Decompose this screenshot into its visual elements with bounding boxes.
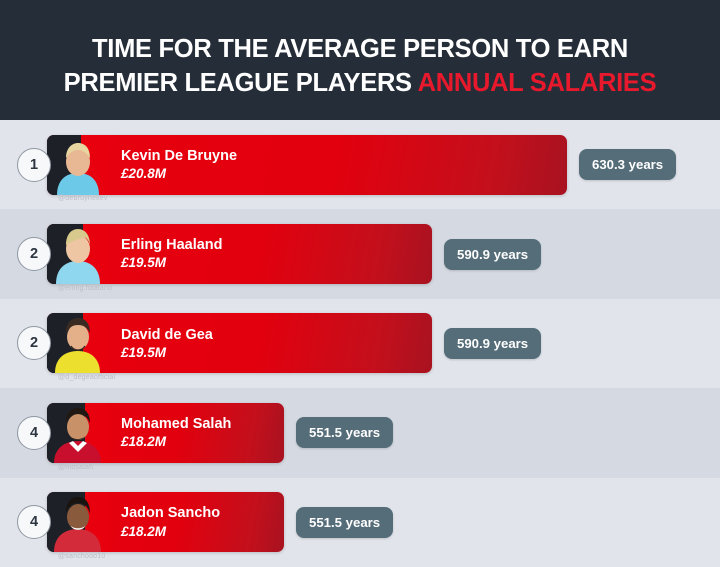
player-photo — [47, 224, 109, 284]
player-info: David de Gea £19.5M — [121, 326, 213, 362]
player-handle: @erling.haaland — [58, 285, 112, 292]
value-bar: Kevin De Bruyne £20.8M — [47, 135, 567, 195]
player-name: Mohamed Salah — [121, 415, 231, 433]
value-badge: 590.9 years — [444, 328, 541, 359]
value-bar: David de Gea £19.5M — [47, 313, 432, 373]
bar-assembly: Erling Haaland £19.5M 590.9 years — [47, 224, 541, 284]
player-handle: @mosalah — [58, 464, 93, 471]
infographic-header: TIME FOR THE AVERAGE PERSON TO EARN PREM… — [0, 0, 720, 120]
bar-assembly: Jadon Sancho £18.2M 551.5 years — [47, 492, 393, 552]
bar-chart: 1 Kevin De Bruyne £20.8M 630.3 y — [0, 120, 720, 567]
player-handle: @sanchooo10 — [58, 553, 105, 560]
value-bar: Erling Haaland £19.5M — [47, 224, 432, 284]
player-salary: £18.2M — [121, 433, 231, 451]
table-row[interactable]: 2 David de Gea £19.5M — [0, 299, 720, 388]
player-photo — [47, 492, 109, 552]
player-salary: £20.8M — [121, 165, 237, 183]
table-row[interactable]: 4 Mohamed Salah £18.2M — [0, 388, 720, 477]
page-title-white-part: PREMIER LEAGUE PLAYERS — [64, 69, 412, 97]
page-title-line-1: TIME FOR THE AVERAGE PERSON TO EARN — [92, 33, 628, 67]
player-photo — [47, 403, 109, 463]
rank-badge: 4 — [17, 416, 51, 450]
value-badge: 551.5 years — [296, 507, 393, 538]
table-row[interactable]: 2 Erling Haaland £19.5M 590.9 ye — [0, 209, 720, 298]
player-name: Erling Haaland — [121, 236, 223, 254]
value-badge: 630.3 years — [579, 149, 676, 180]
player-photo — [47, 135, 109, 195]
player-info: Jadon Sancho £18.2M — [121, 504, 220, 540]
value-badge: 551.5 years — [296, 417, 393, 448]
player-salary: £19.5M — [121, 254, 223, 272]
table-row[interactable]: 1 Kevin De Bruyne £20.8M 630.3 y — [0, 120, 720, 209]
rank-badge: 2 — [17, 326, 51, 360]
bar-assembly: Kevin De Bruyne £20.8M 630.3 years — [47, 135, 676, 195]
player-name: Kevin De Bruyne — [121, 147, 237, 165]
player-handle: @debruynekev — [58, 195, 108, 202]
page-title-line-2: PREMIER LEAGUE PLAYERS ANNUAL SALARIES — [64, 67, 657, 101]
value-badge: 590.9 years — [444, 239, 541, 270]
bar-assembly: Mohamed Salah £18.2M 551.5 years — [47, 403, 393, 463]
rank-badge: 4 — [17, 505, 51, 539]
rank-badge: 2 — [17, 237, 51, 271]
player-name: David de Gea — [121, 326, 213, 344]
page-title-accent-part: ANNUAL SALARIES — [418, 69, 657, 97]
value-bar: Mohamed Salah £18.2M — [47, 403, 284, 463]
player-info: Erling Haaland £19.5M — [121, 236, 223, 272]
player-handle: @d_degeaofficial — [58, 374, 115, 381]
player-name: Jadon Sancho — [121, 504, 220, 522]
bar-assembly: David de Gea £19.5M 590.9 years — [47, 313, 541, 373]
player-photo — [47, 313, 109, 373]
table-row[interactable]: 4 Jadon Sancho £18.2M — [0, 478, 720, 567]
player-info: Mohamed Salah £18.2M — [121, 415, 231, 451]
value-bar: Jadon Sancho £18.2M — [47, 492, 284, 552]
player-salary: £19.5M — [121, 344, 213, 362]
player-salary: £18.2M — [121, 523, 220, 541]
player-info: Kevin De Bruyne £20.8M — [121, 147, 237, 183]
rank-badge: 1 — [17, 148, 51, 182]
